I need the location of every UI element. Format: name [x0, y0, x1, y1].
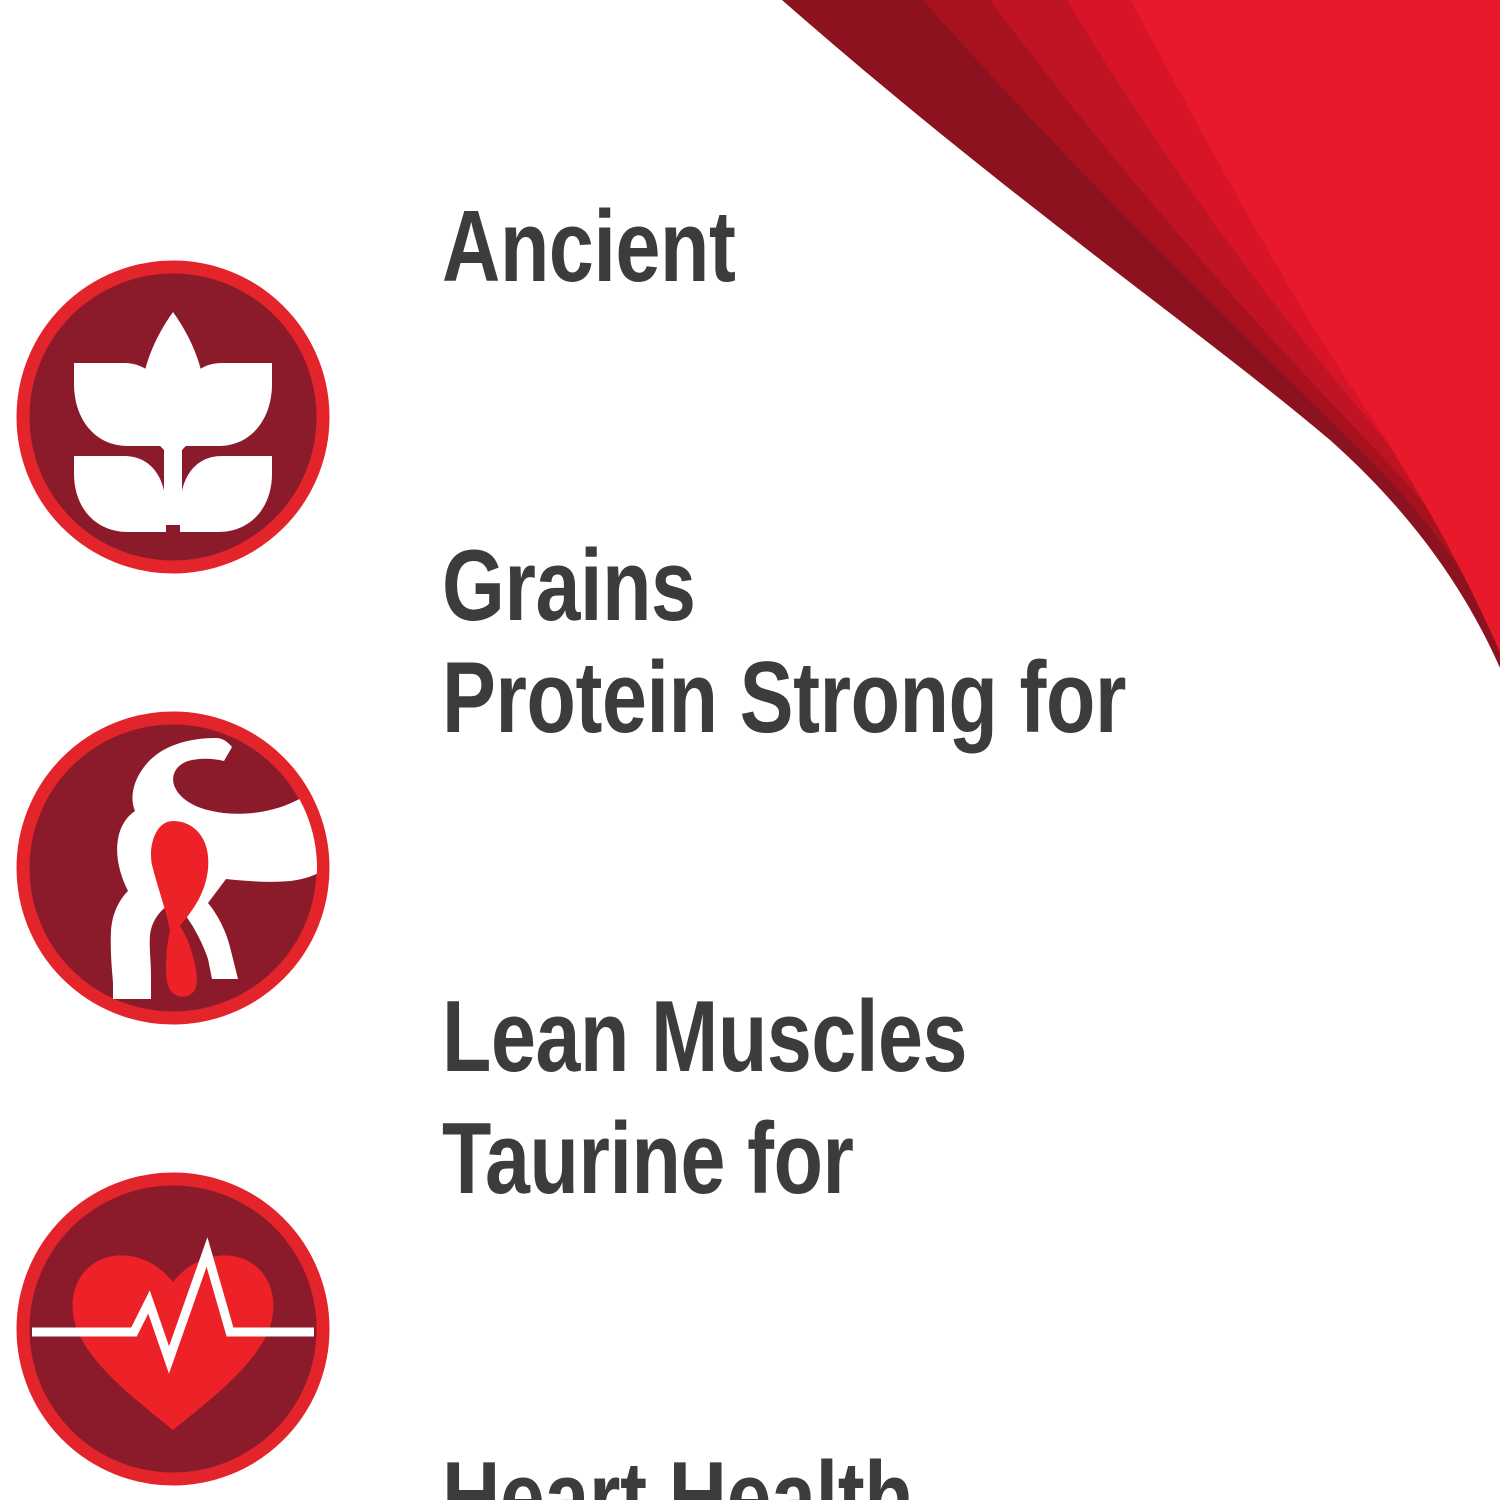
product-benefits-panel: Ancient Grains	[0, 0, 1500, 1500]
grain-icon	[16, 260, 330, 574]
dog-muscle-icon	[16, 711, 330, 1025]
feature-label-line: Ancient	[442, 191, 736, 304]
feature-label: Taurine for Heart Health	[442, 877, 913, 1500]
heart-pulse-icon	[16, 1172, 330, 1486]
feature-item: Taurine for Heart Health	[0, 1169, 1200, 1489]
feature-label-line: Taurine for	[442, 1103, 913, 1216]
feature-label-line: Heart Health	[442, 1442, 913, 1500]
feature-label-line: Protein Strong for	[442, 642, 1126, 755]
